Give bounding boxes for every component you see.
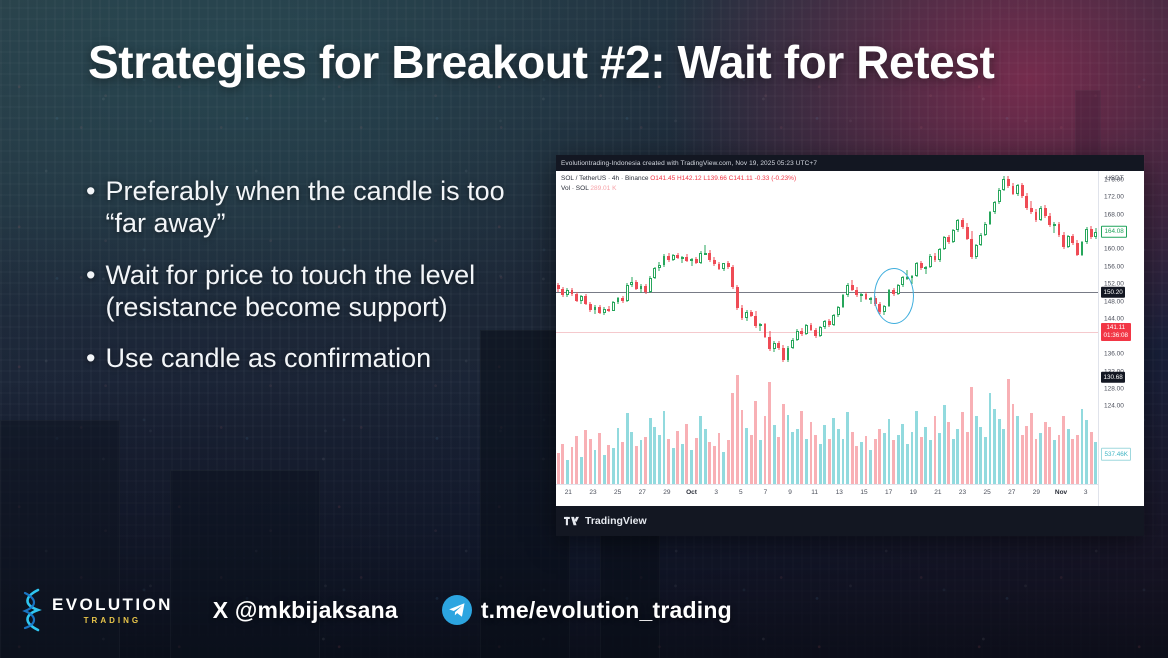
- candle-body: [1039, 208, 1042, 220]
- volume-bar: [699, 416, 702, 484]
- page-title: Strategies for Breakout #2: Wait for Ret…: [88, 38, 1048, 87]
- candle-body: [727, 263, 730, 267]
- y-axis-tick: 136.00: [1104, 351, 1124, 358]
- candle: [754, 311, 757, 328]
- candle-body: [810, 325, 813, 329]
- volume-bar: [561, 444, 564, 484]
- candle: [952, 229, 955, 244]
- candle-body: [745, 312, 748, 319]
- candle-body: [557, 285, 560, 289]
- candle-body: [1012, 186, 1015, 193]
- volume-bar: [681, 444, 684, 484]
- volume-bar: [956, 429, 959, 484]
- volume-bar: [1025, 426, 1028, 484]
- candle-body: [823, 321, 826, 327]
- x-axis-tick: 23: [959, 489, 966, 496]
- volume-bar: [796, 429, 799, 484]
- volume-bar: [865, 436, 868, 484]
- volume-bar: [782, 404, 785, 484]
- candle: [764, 323, 767, 339]
- volume-bar: [676, 431, 679, 484]
- candle-body: [653, 268, 656, 278]
- volume-bar: [617, 428, 620, 484]
- candle-body: [851, 285, 854, 290]
- candle: [929, 254, 932, 268]
- volume-bar: [819, 444, 822, 484]
- candle-body: [575, 294, 578, 301]
- volume-bar: [961, 412, 964, 484]
- volume-bar: [1016, 416, 1019, 484]
- candle: [750, 310, 753, 317]
- evolution-helix-icon: [18, 588, 46, 632]
- candle: [984, 222, 987, 236]
- volume-bar: [970, 387, 973, 484]
- candle-body: [865, 294, 868, 299]
- volume-bar: [943, 405, 946, 484]
- chart-y-axis[interactable]: USDT 124.00128.00132.00136.00140.00144.0…: [1098, 171, 1144, 506]
- candle: [1094, 228, 1097, 238]
- candle: [938, 248, 941, 262]
- candle-body: [943, 237, 946, 249]
- candle: [846, 283, 849, 297]
- candle: [1044, 205, 1047, 218]
- x-axis-tick: Nov: [1055, 489, 1067, 496]
- logo-primary-label: EVOLUTION: [52, 596, 173, 613]
- candle: [975, 244, 978, 259]
- volume-bar: [989, 393, 992, 484]
- bullet-list: • Preferably when the candle is too “far…: [86, 176, 526, 395]
- candle-body: [644, 286, 647, 292]
- volume-bar: [832, 418, 835, 484]
- price-badge-volume-level: 130.68: [1101, 372, 1125, 383]
- legend-volume-value: 289.01 K: [590, 185, 616, 192]
- tradingview-brand-label: TradingView: [585, 515, 647, 527]
- chart-canvas[interactable]: SOL / TetherUS · 4h · Binance O141.45 H1…: [556, 171, 1144, 506]
- volume-bar: [869, 450, 872, 484]
- volume-bar: [800, 411, 803, 484]
- volume-bar: [663, 411, 666, 484]
- candle-body: [768, 337, 771, 349]
- volume-bar: [594, 450, 597, 484]
- candle: [607, 306, 610, 313]
- candle: [658, 262, 661, 271]
- volume-bar: [1076, 435, 1079, 484]
- candle-body: [722, 263, 725, 268]
- volume-bar: [1012, 404, 1015, 484]
- candle: [594, 305, 597, 314]
- volume-bar: [607, 445, 610, 484]
- candle-body: [842, 295, 845, 307]
- y-axis-tick: 124.00: [1104, 403, 1124, 410]
- candle-body: [759, 324, 762, 326]
- candle: [851, 280, 854, 292]
- candle: [699, 251, 702, 264]
- list-item: • Use candle as confirmation: [86, 343, 526, 375]
- candle: [1021, 183, 1024, 198]
- volume-bar: [1035, 439, 1038, 484]
- candle: [1067, 235, 1070, 249]
- volume-bar: [685, 424, 688, 484]
- volume-bar: [906, 444, 909, 484]
- volume-bar: [1085, 420, 1088, 484]
- volume-bar: [791, 432, 794, 484]
- volume-bar: [580, 457, 583, 484]
- candle: [777, 341, 780, 351]
- volume-bar: [878, 429, 881, 484]
- candle: [1035, 209, 1038, 222]
- volume-bar: [603, 455, 606, 484]
- candle: [993, 201, 996, 215]
- candle: [1007, 176, 1010, 188]
- slide-footer: EVOLUTION TRADING X @mkbijaksana t.me/ev…: [0, 562, 1168, 658]
- legend-ohlc: O141.45 H142.12 L139.66 C141.11 -0.33 (-…: [650, 175, 796, 182]
- retest-annotation-ellipse: [874, 268, 914, 324]
- candle-body: [791, 340, 794, 348]
- volume-bar: [805, 439, 808, 484]
- volume-bar: [704, 429, 707, 484]
- candle-body: [621, 298, 624, 301]
- chart-attribution: Evolutiontrading-Indonesia created with …: [556, 155, 1144, 171]
- candle: [603, 307, 606, 315]
- volume-bar: [754, 401, 757, 484]
- logo-secondary-label: TRADING: [52, 617, 173, 625]
- x-handle-label: X @mkbijaksana: [213, 597, 398, 624]
- y-axis-tick: 160.00: [1104, 246, 1124, 253]
- candle-body: [782, 348, 785, 360]
- volume-bar: [557, 453, 560, 484]
- volume-bar: [993, 409, 996, 484]
- y-axis-tick: 172.00: [1104, 194, 1124, 201]
- candle: [832, 314, 835, 326]
- volume-bar: [1021, 435, 1024, 484]
- candle-body: [598, 307, 601, 314]
- brand-logo: EVOLUTION TRADING: [18, 588, 173, 632]
- volume-bar: [644, 437, 647, 484]
- volume-bar: [708, 442, 711, 484]
- candle: [800, 328, 803, 336]
- candle: [681, 256, 684, 263]
- telegram-handle[interactable]: t.me/evolution_trading: [442, 595, 732, 625]
- volume-bar: [897, 435, 900, 484]
- candle: [644, 284, 647, 294]
- volume-bar: [598, 433, 601, 484]
- volume-bar: [672, 448, 675, 484]
- y-axis-tick: 128.00: [1104, 385, 1124, 392]
- volume-bar: [1081, 409, 1084, 484]
- volume-bar: [713, 446, 716, 484]
- tradingview-branding: TradingView: [556, 506, 1144, 536]
- candle: [782, 345, 785, 362]
- volume-bar: [658, 435, 661, 484]
- candle-body: [566, 290, 569, 295]
- candle-body: [1053, 224, 1056, 226]
- candle: [920, 261, 923, 270]
- volume-bar: [920, 437, 923, 484]
- candle-body: [699, 253, 702, 263]
- candle-body: [846, 285, 849, 295]
- candle-body: [667, 256, 670, 260]
- candle-body: [979, 235, 982, 245]
- candle-body: [584, 296, 587, 304]
- volume-bar: [759, 440, 762, 484]
- candle: [791, 338, 794, 349]
- volume-bar: [966, 432, 969, 484]
- volume-bar: [1007, 379, 1010, 484]
- candle-body: [1016, 185, 1019, 194]
- candle-body: [704, 253, 707, 255]
- candle-body: [837, 307, 840, 315]
- volume-bar: [924, 427, 927, 484]
- candle-body: [934, 256, 937, 260]
- price-badge-last: 141.1101:36:08: [1101, 323, 1131, 341]
- candle: [690, 258, 693, 266]
- candle: [814, 328, 817, 338]
- candle: [561, 287, 564, 297]
- candle-body: [929, 256, 932, 267]
- x-axis-tick: 7: [764, 489, 768, 496]
- candle-body: [1062, 235, 1065, 247]
- candle-body: [952, 230, 955, 242]
- volume-bar: [979, 427, 982, 484]
- candle: [713, 257, 716, 266]
- x-axis-tick: 29: [663, 489, 670, 496]
- candle-body: [617, 298, 620, 302]
- volume-bar: [814, 435, 817, 484]
- candle: [1085, 227, 1088, 244]
- candle: [961, 218, 964, 229]
- candle-body: [731, 267, 734, 287]
- volume-bar: [787, 415, 790, 484]
- candle: [1030, 201, 1033, 214]
- candle-body: [814, 330, 817, 336]
- candle-body: [796, 331, 799, 341]
- volume-bar: [736, 375, 739, 484]
- candle-body: [800, 331, 803, 335]
- candle-body: [1076, 243, 1079, 255]
- list-item: • Wait for price to touch the level (res…: [86, 260, 526, 324]
- candle: [805, 324, 808, 335]
- volume-bar: [731, 393, 734, 484]
- x-axis-tick: 21: [934, 489, 941, 496]
- candle-body: [915, 263, 918, 276]
- y-axis-tick: 176.00: [1104, 176, 1124, 183]
- candle-body: [984, 224, 987, 234]
- candle-body: [1025, 196, 1028, 208]
- candle-body: [828, 321, 831, 324]
- candle: [998, 188, 1001, 204]
- candle: [869, 297, 872, 305]
- candle: [934, 253, 937, 262]
- candle-body: [1030, 208, 1033, 212]
- volume-bar: [888, 419, 891, 484]
- candle-body: [920, 263, 923, 268]
- volume-bar: [915, 411, 918, 484]
- x-handle[interactable]: X @mkbijaksana: [213, 597, 398, 624]
- x-axis-tick: 5: [739, 489, 743, 496]
- list-item-label: Wait for price to touch the level (resis…: [105, 260, 526, 324]
- volume-bar: [929, 440, 932, 484]
- volume-bar: [892, 440, 895, 484]
- x-axis-tick: 29: [1033, 489, 1040, 496]
- y-axis-tick: 148.00: [1104, 298, 1124, 305]
- y-axis-tick: 168.00: [1104, 211, 1124, 218]
- presentation-slide: Strategies for Breakout #2: Wait for Ret…: [0, 0, 1168, 658]
- candle-body: [736, 287, 739, 307]
- volume-bar: [764, 416, 767, 484]
- bullet-marker-icon: •: [86, 343, 95, 375]
- volume-bar: [575, 436, 578, 484]
- volume-bar: [1058, 435, 1061, 484]
- candle: [865, 292, 868, 301]
- volume-bar: [883, 433, 886, 484]
- candle: [1071, 234, 1074, 245]
- candle: [819, 326, 822, 336]
- candle: [663, 254, 666, 267]
- x-axis-tick: 9: [788, 489, 792, 496]
- x-axis-tick: 17: [885, 489, 892, 496]
- candle: [1058, 222, 1061, 237]
- candle-body: [1058, 224, 1061, 235]
- price-plot-area[interactable]: [556, 171, 1098, 484]
- volume-bar: [566, 460, 569, 484]
- candle: [731, 265, 734, 289]
- candle: [947, 235, 950, 245]
- volume-bar: [1002, 429, 1005, 484]
- candle: [708, 250, 711, 262]
- candle: [956, 219, 959, 233]
- volume-bar: [773, 425, 776, 484]
- candle: [979, 233, 982, 247]
- candle-body: [777, 343, 780, 349]
- candle: [823, 320, 826, 329]
- candle: [915, 262, 918, 277]
- candle-body: [860, 294, 863, 296]
- candle: [970, 231, 973, 259]
- candle-body: [685, 257, 688, 261]
- volume-bar: [874, 439, 877, 484]
- volume-bar: [1044, 422, 1047, 484]
- candle-body: [764, 324, 767, 336]
- candle: [653, 267, 656, 279]
- candle-body: [924, 267, 927, 269]
- candle-body: [640, 286, 643, 289]
- legend-volume-label: Vol · SOL: [561, 185, 589, 192]
- volume-bar: [846, 412, 849, 484]
- candle: [924, 266, 927, 274]
- volume-bar: [975, 416, 978, 484]
- volume-bar: [1048, 427, 1051, 484]
- volume-bar: [1030, 413, 1033, 484]
- candle-body: [658, 265, 661, 268]
- candle-body: [1090, 229, 1093, 237]
- candle: [1039, 206, 1042, 221]
- candle: [1053, 222, 1056, 232]
- candle: [1002, 176, 1005, 191]
- candle-body: [754, 316, 757, 326]
- candle: [649, 276, 652, 293]
- x-axis-tick: 11: [811, 489, 818, 496]
- volume-badge-current: 537.46K: [1101, 448, 1131, 461]
- candle: [966, 223, 969, 240]
- candle-body: [594, 307, 597, 310]
- candle: [1081, 241, 1084, 256]
- candle: [584, 294, 587, 306]
- candle: [855, 287, 858, 297]
- volume-bar: [727, 440, 730, 484]
- candle: [718, 262, 721, 270]
- candle: [745, 310, 748, 321]
- support-resistance-line: [556, 292, 1098, 293]
- candle-body: [819, 327, 822, 335]
- volume-bar: [998, 419, 1001, 484]
- candle-body: [1048, 216, 1051, 225]
- candle-body: [1002, 179, 1005, 190]
- volume-bar: [1090, 432, 1093, 484]
- x-axis-tick: 3: [1084, 489, 1088, 496]
- x-axis-tick: 27: [1008, 489, 1015, 496]
- candle: [589, 302, 592, 312]
- candle: [566, 288, 569, 297]
- volume-bar: [635, 446, 638, 484]
- volume-bar: [855, 446, 858, 484]
- candle-body: [589, 304, 592, 310]
- candle-body: [938, 249, 941, 260]
- candle-body: [580, 296, 583, 301]
- candle-body: [672, 255, 675, 260]
- candle-body: [956, 220, 959, 230]
- candle-body: [970, 239, 973, 258]
- telegram-icon: [442, 595, 472, 625]
- last-price-line: [556, 332, 1098, 333]
- candle-body: [911, 276, 914, 278]
- x-axis-tick: 3: [714, 489, 718, 496]
- volume-bar: [571, 447, 574, 484]
- candle-body: [750, 312, 753, 316]
- bullet-marker-icon: •: [86, 176, 95, 208]
- candle: [580, 295, 583, 304]
- volume-bar: [984, 437, 987, 484]
- candle-body: [1071, 236, 1074, 243]
- candle: [1048, 213, 1051, 227]
- candle: [635, 280, 638, 291]
- chart-legend: SOL / TetherUS · 4h · Binance O141.45 H1…: [561, 174, 796, 194]
- tradingview-chart-widget[interactable]: Evolutiontrading-Indonesia created with …: [556, 155, 1144, 536]
- tradingview-logo-icon: [564, 516, 579, 527]
- candle: [685, 254, 688, 262]
- candle: [828, 319, 831, 327]
- candle-body: [635, 282, 638, 289]
- candle-body: [713, 260, 716, 264]
- candle: [722, 263, 725, 271]
- candle-body: [649, 278, 652, 292]
- candle-body: [975, 245, 978, 257]
- chart-x-axis[interactable]: 2123252729Oct357911131517192123252729Nov…: [556, 484, 1098, 506]
- candle: [575, 292, 578, 302]
- candle: [787, 346, 790, 361]
- candle: [741, 305, 744, 320]
- x-axis-tick: 19: [910, 489, 917, 496]
- candle-body: [681, 257, 684, 259]
- x-axis-tick: Oct: [686, 489, 697, 496]
- candle-body: [832, 315, 835, 325]
- volume-bar: [911, 432, 914, 484]
- candle-body: [993, 202, 996, 212]
- telegram-handle-label: t.me/evolution_trading: [481, 597, 732, 624]
- candle: [1016, 184, 1019, 196]
- candle: [621, 296, 624, 303]
- list-item-label: Use candle as confirmation: [105, 343, 526, 375]
- volume-bar: [1039, 433, 1042, 484]
